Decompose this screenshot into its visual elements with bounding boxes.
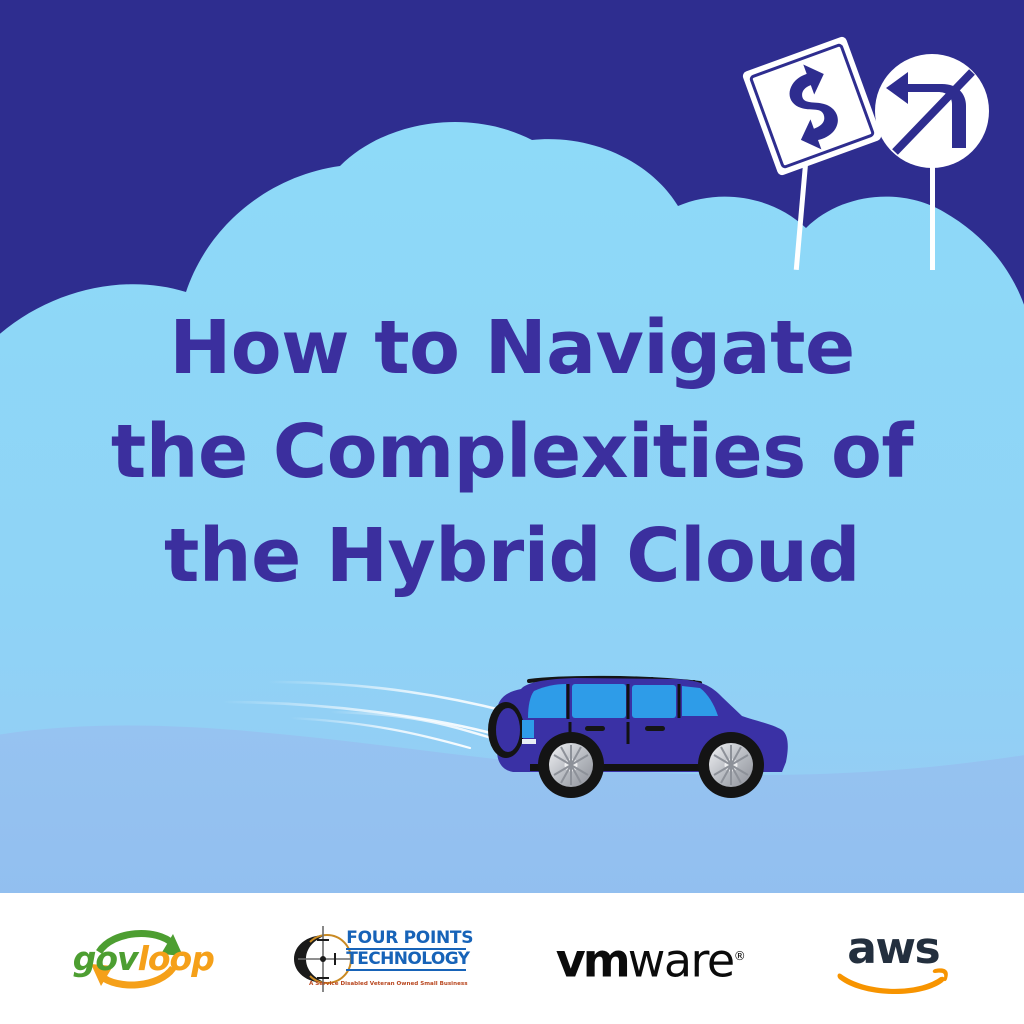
- four-points-line-2: TECHNOLOGY: [346, 950, 466, 971]
- vmware-text-ware: ware: [628, 934, 734, 988]
- suv-rear-quarter-window: [522, 720, 534, 738]
- aws-logo[interactable]: aws: [835, 926, 951, 992]
- four-points-line-1: FOUR POINTS: [346, 929, 466, 950]
- sponsor-logo-bar: govloop FOUR POINTS TECHNOLOGY: [0, 893, 1024, 1024]
- vmware-text-vm: vm: [556, 934, 628, 988]
- vmware-logo[interactable]: vmware®: [556, 931, 746, 985]
- vmware-registered-mark: ®: [734, 949, 746, 963]
- poster-canvas: How to Navigate the Complexities of the …: [0, 0, 1024, 1024]
- suv-front-wheel: [698, 732, 764, 798]
- four-points-technology-logo[interactable]: FOUR POINTS TECHNOLOGY A Service Disable…: [290, 923, 466, 995]
- govloop-logo[interactable]: govloop: [73, 926, 201, 992]
- four-points-tagline: A Service Disabled Veteran Owned Small B…: [308, 981, 468, 988]
- aws-smile-arrow-icon: [835, 966, 951, 996]
- suv-windows: [528, 684, 718, 718]
- scene-illustration: [0, 0, 1024, 1024]
- govloop-text-loop: loop: [138, 939, 214, 978]
- govloop-text-gov: gov: [73, 939, 138, 978]
- suv-rear-wheel: [538, 732, 604, 798]
